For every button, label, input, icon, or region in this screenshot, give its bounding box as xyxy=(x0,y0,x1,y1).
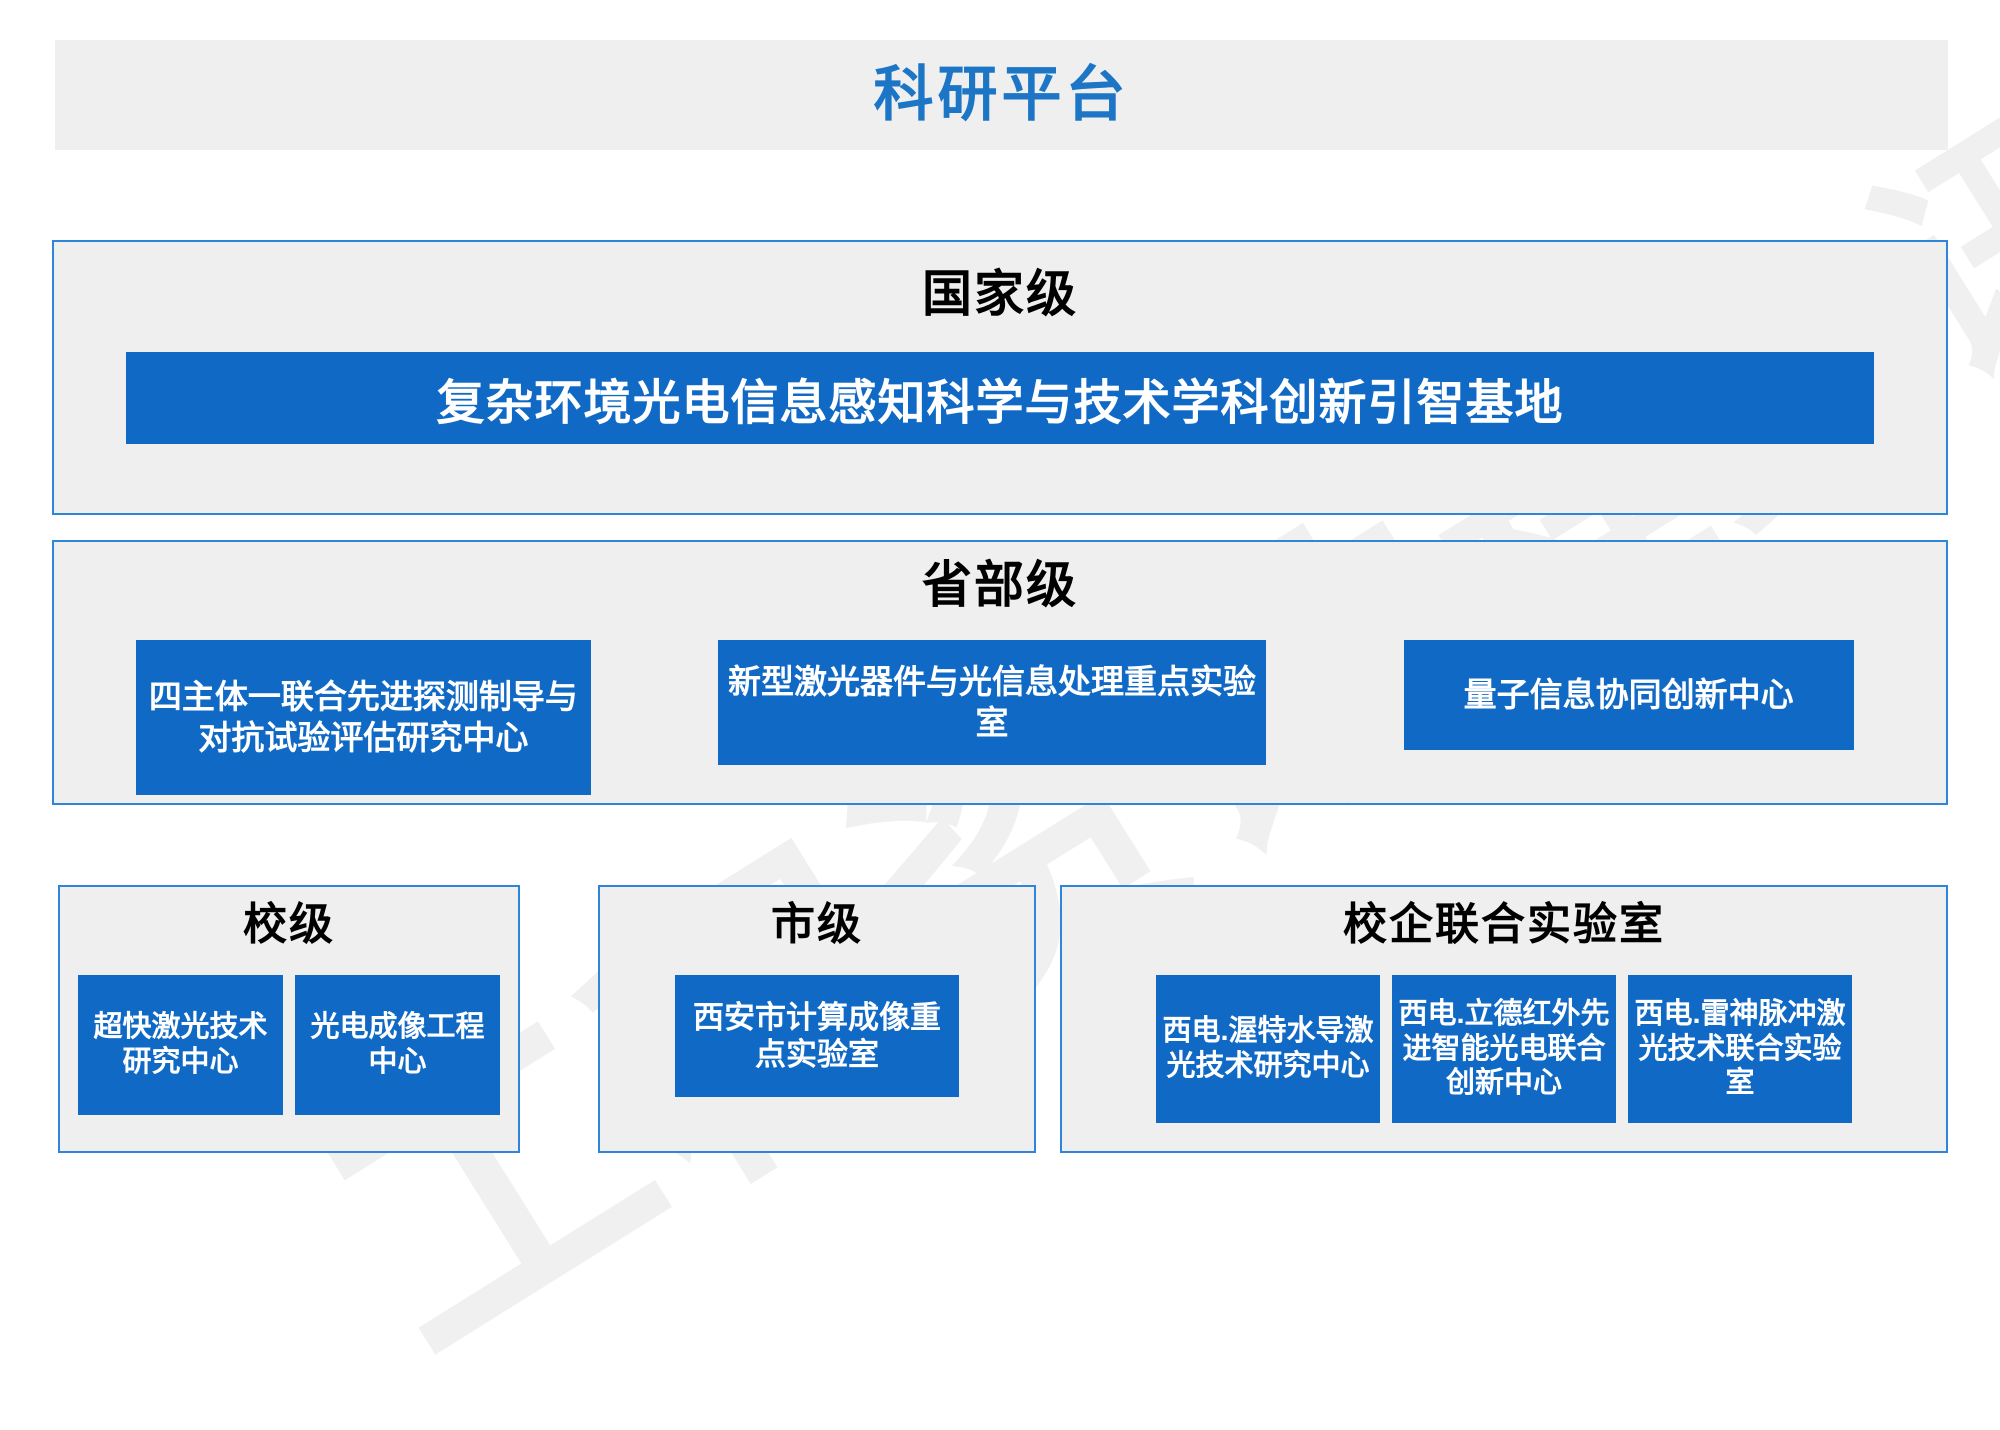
joint-lab-panel: 校企联合实验室 西电.渥特水导激光技术研究中心 西电.立德红外先进智能光电联合创… xyxy=(1060,885,1948,1153)
national-level-panel: 国家级 复杂环境光电信息感知科学与技术学科创新引智基地 xyxy=(52,240,1948,515)
platform-card-provincial-3[interactable]: 量子信息协同创新中心 xyxy=(1404,640,1854,750)
provincial-level-item-list: 四主体一联合先进探测制导与对抗试验评估研究中心 新型激光器件与光信息处理重点实验… xyxy=(54,640,1946,795)
page-title: 科研平台 xyxy=(874,65,1130,125)
platform-card-city-1[interactable]: 西安市计算成像重点实验室 xyxy=(675,975,959,1097)
platform-card-provincial-1[interactable]: 四主体一联合先进探测制导与对抗试验评估研究中心 xyxy=(136,640,591,795)
provincial-level-heading: 省部级 xyxy=(54,560,1946,610)
city-level-heading: 市级 xyxy=(600,903,1034,947)
provincial-slot-2: 新型激光器件与光信息处理重点实验室 xyxy=(673,640,1312,765)
platform-card-joint-2[interactable]: 西电.立德红外先进智能光电联合创新中心 xyxy=(1392,975,1616,1123)
national-level-heading: 国家级 xyxy=(54,269,1946,319)
joint-lab-item-list: 西电.渥特水导激光技术研究中心 西电.立德红外先进智能光电联合创新中心 西电.雷… xyxy=(1062,975,1946,1123)
platform-card-school-2[interactable]: 光电成像工程中心 xyxy=(295,975,500,1115)
school-level-item-list: 超快激光技术研究中心 光电成像工程中心 xyxy=(60,975,518,1115)
provincial-level-panel: 省部级 四主体一联合先进探测制导与对抗试验评估研究中心 新型激光器件与光信息处理… xyxy=(52,540,1948,805)
city-level-item-list: 西安市计算成像重点实验室 xyxy=(600,975,1034,1097)
platform-card-school-1[interactable]: 超快激光技术研究中心 xyxy=(78,975,283,1115)
platform-card-joint-3[interactable]: 西电.雷神脉冲激光技术联合实验室 xyxy=(1628,975,1852,1123)
research-platform-slide: 科研平台 国家级 复杂环境光电信息感知科学与技术学科创新引智基地 省部级 四主体… xyxy=(0,0,2000,1229)
title-banner: 科研平台 xyxy=(55,40,1948,150)
provincial-slot-1: 四主体一联合先进探测制导与对抗试验评估研究中心 xyxy=(54,640,673,795)
school-level-panel: 校级 超快激光技术研究中心 光电成像工程中心 xyxy=(58,885,520,1153)
joint-lab-heading: 校企联合实验室 xyxy=(1062,903,1946,947)
provincial-slot-3: 量子信息协同创新中心 xyxy=(1311,640,1946,750)
school-level-heading: 校级 xyxy=(60,903,518,947)
city-level-panel: 市级 西安市计算成像重点实验室 xyxy=(598,885,1036,1153)
platform-card-national-1[interactable]: 复杂环境光电信息感知科学与技术学科创新引智基地 xyxy=(126,352,1874,444)
platform-card-joint-1[interactable]: 西电.渥特水导激光技术研究中心 xyxy=(1156,975,1380,1123)
platform-card-provincial-2[interactable]: 新型激光器件与光信息处理重点实验室 xyxy=(718,640,1266,765)
